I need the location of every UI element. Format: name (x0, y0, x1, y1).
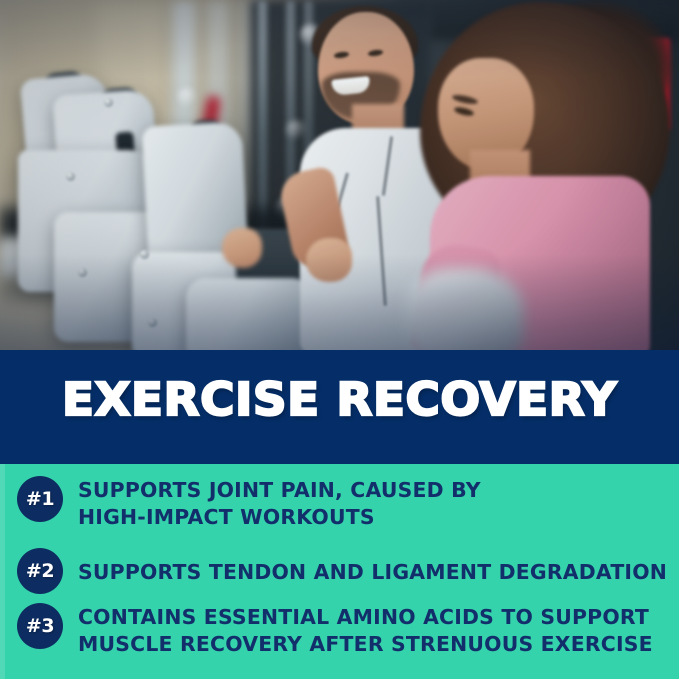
badge-number: #2 (17, 548, 63, 594)
title-band: EXERCISE RECOVERY (0, 350, 679, 464)
photo-vignette (0, 0, 679, 353)
exercise-recovery-infographic: EXERCISE RECOVERY #1 SUPPORTS JOINT PAIN… (0, 0, 679, 679)
list-item-label: SUPPORTS TENDON AND LIGAMENT DEGRADATION (78, 548, 667, 586)
benefits-list: #1 SUPPORTS JOINT PAIN, CAUSED BY HIGH-I… (0, 464, 679, 679)
list-item: #3 CONTAINS ESSENTIAL AMINO ACIDS TO SUP… (17, 603, 642, 658)
list-item-label: CONTAINS ESSENTIAL AMINO ACIDS TO SUPPOR… (78, 603, 653, 658)
gym-cardio-photo (0, 0, 679, 353)
page-title: EXERCISE RECOVERY (0, 377, 679, 422)
badge-number: #3 (17, 603, 63, 649)
badge-number: #1 (17, 476, 63, 522)
list-item: #2 SUPPORTS TENDON AND LIGAMENT DEGRADAT… (17, 548, 656, 594)
left-edge-strip (0, 464, 5, 679)
list-item-label: SUPPORTS JOINT PAIN, CAUSED BY HIGH-IMPA… (78, 476, 481, 531)
list-item: #1 SUPPORTS JOINT PAIN, CAUSED BY HIGH-I… (17, 476, 473, 531)
